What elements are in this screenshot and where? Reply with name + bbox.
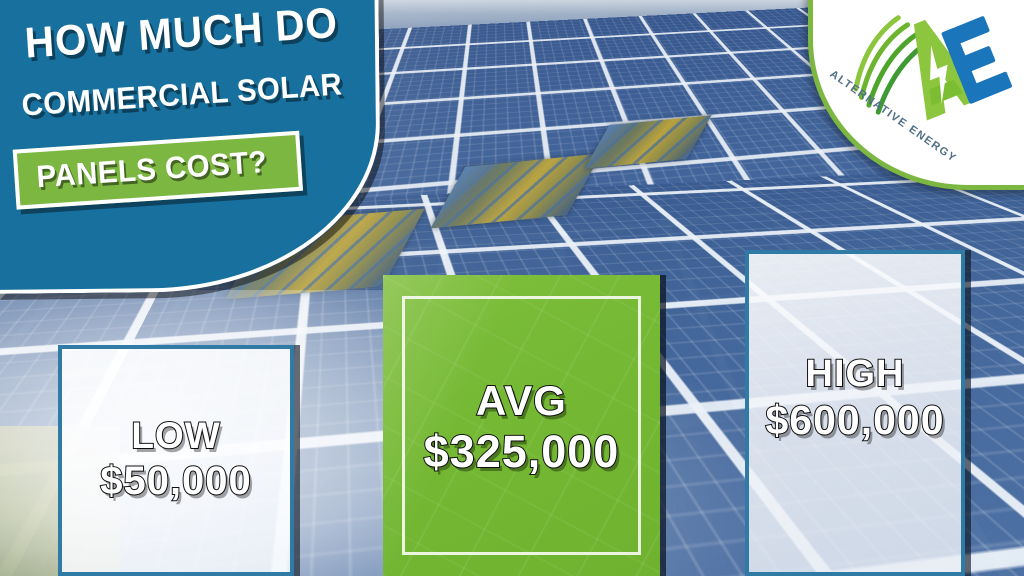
infographic-canvas: HOW MUCH DO COMMERCIAL SOLAR PANELS COST… [0,0,1024,576]
headline-line-1: HOW MUCH DO [23,0,339,69]
bar-low-name: LOW [58,417,294,455]
bar-high-name: HIGH [745,355,965,394]
headline-line-2: COMMERCIAL SOLAR [20,66,343,123]
bar-avg-value: $325,000 [383,429,660,475]
bar-low: LOW $50,000 [58,345,294,576]
headline-highlight-band: PANELS COST? [13,131,303,210]
bar-avg-labels: AVG $325,000 [383,380,660,475]
headline-line-3: PANELS COST? [35,144,268,195]
bar-low-labels: LOW $50,000 [58,417,294,502]
bar-low-value: $50,000 [58,461,294,502]
bar-high-labels: HIGH $600,000 [745,355,965,442]
title-banner-inner: HOW MUCH DO COMMERCIAL SOLAR PANELS COST… [0,0,378,290]
bar-avg-name: AVG [383,380,660,423]
title-banner: HOW MUCH DO COMMERCIAL SOLAR PANELS COST… [0,0,382,294]
bar-avg: AVG $325,000 [383,275,660,576]
bar-high: HIGH $600,000 [745,250,965,576]
bar-high-value: $600,000 [745,400,965,442]
